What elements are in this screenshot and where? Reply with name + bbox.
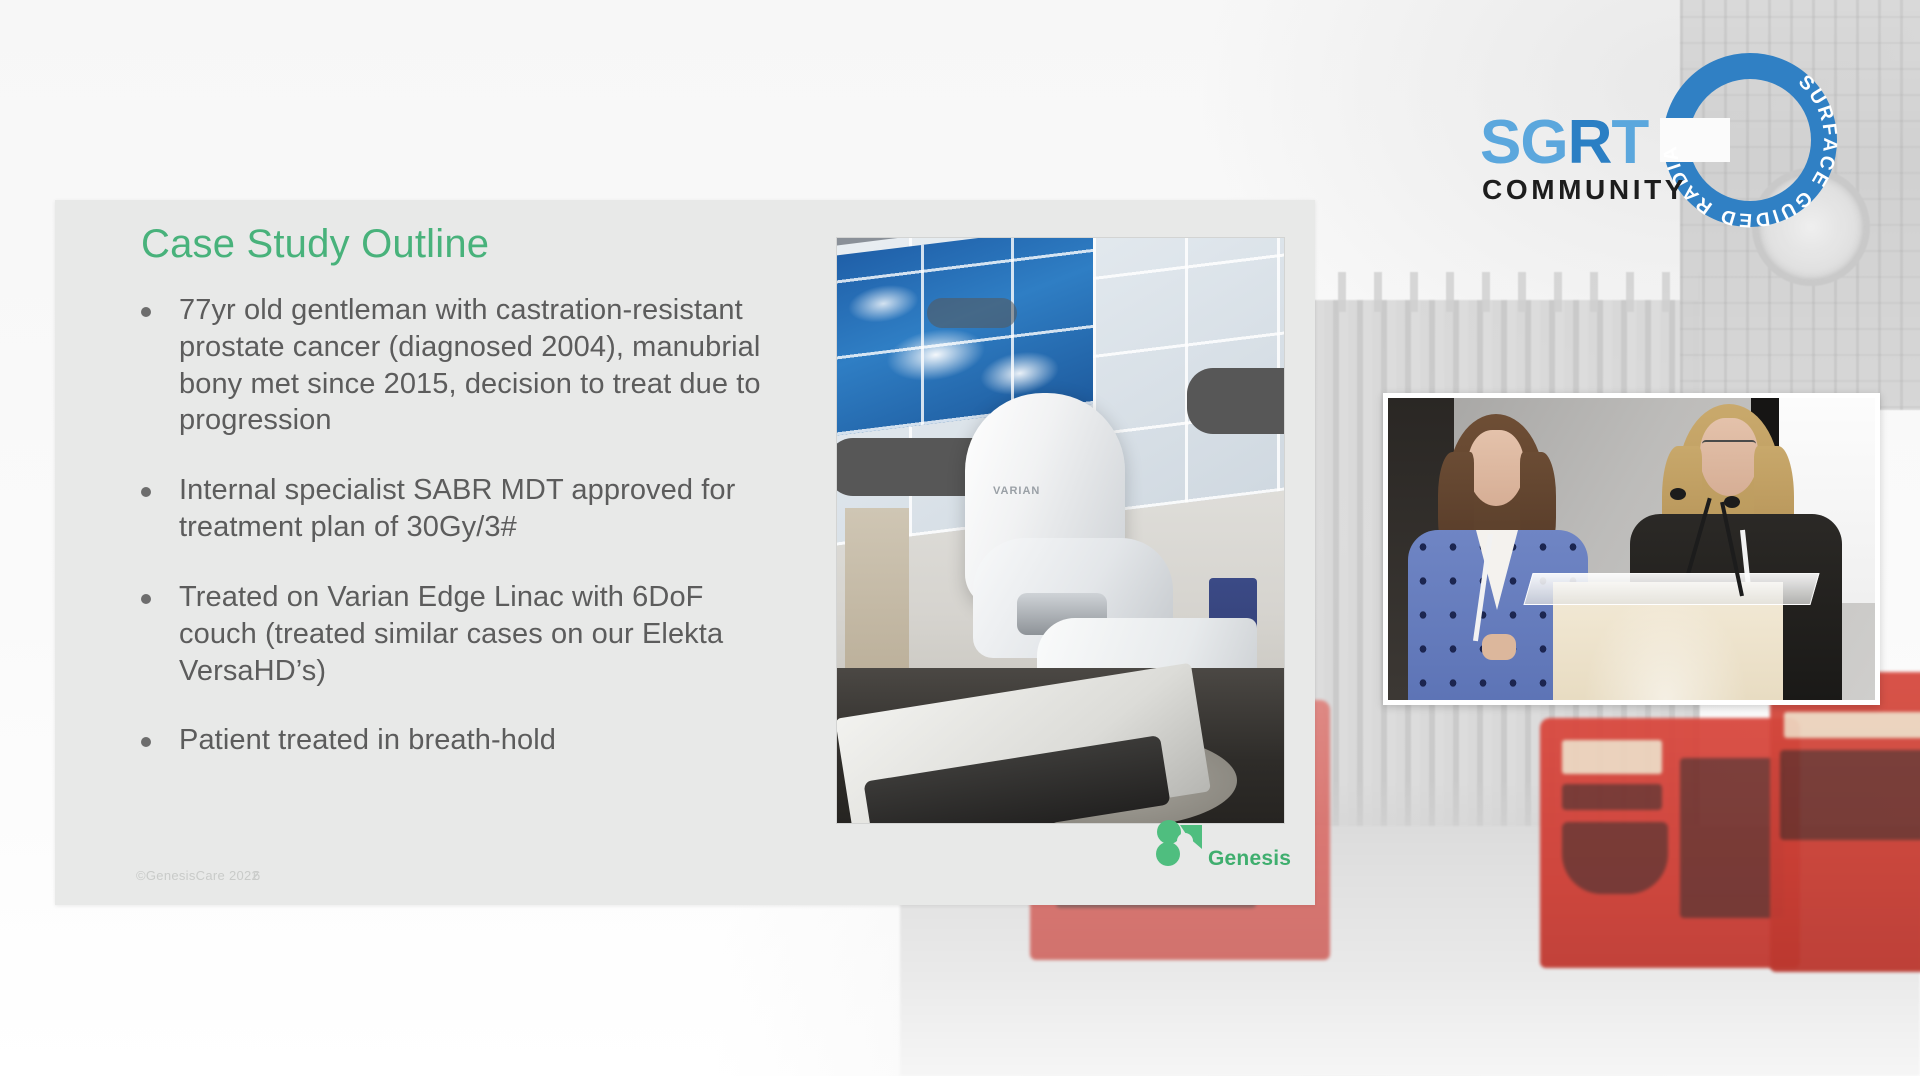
list-item: 77yr old gentleman with castration-resis… — [141, 292, 781, 439]
video-frame — [1388, 398, 1875, 700]
linac-treatment-room-photo: VARIAN — [836, 237, 1285, 824]
face — [1700, 418, 1758, 496]
bullet-dot-icon — [141, 594, 151, 604]
sgrt-prefix: SG — [1480, 108, 1568, 177]
lectern-glass-top — [1523, 573, 1819, 605]
bullet-text: 77yr old gentleman with castration-resis… — [179, 292, 781, 439]
genesis-mark-icon — [1152, 819, 1214, 867]
list-item: Internal specialist SABR MDT approved fo… — [141, 472, 781, 546]
bus-window — [1780, 750, 1920, 840]
glasses-icon — [1702, 440, 1756, 453]
bus-destination-board — [1784, 712, 1920, 738]
bus-destination-board — [1562, 740, 1662, 774]
bullet-text: Treated on Varian Edge Linac with 6DoF c… — [179, 579, 781, 689]
list-item: Treated on Varian Edge Linac with 6DoF c… — [141, 579, 781, 689]
sgrt-ring-emblem: SURFACE GUIDED RADIATION THERAPY — [1650, 40, 1850, 240]
list-item: Patient treated in breath-hold — [141, 722, 781, 759]
hands — [1482, 634, 1516, 660]
bullet-dot-icon — [141, 307, 151, 317]
bus-window — [1680, 758, 1784, 918]
bullet-dot-icon — [141, 737, 151, 747]
sgrt-community-logo: SURFACE GUIDED RADIATION THERAPY SGRT CO… — [1480, 40, 1880, 260]
face — [1468, 430, 1524, 506]
sgrt-accent-letter: R — [1568, 108, 1612, 177]
machine-brand-label: VARIAN — [993, 485, 1040, 497]
sgrt-suffix: T — [1611, 108, 1648, 177]
ring-icon: SURFACE GUIDED RADIATION THERAPY — [1650, 40, 1850, 240]
lectern-highlight — [1583, 590, 1748, 700]
sgrt-community-label: COMMUNITY — [1482, 174, 1687, 206]
page-number: 6 — [253, 868, 260, 883]
bullet-text: Patient treated in breath-hold — [179, 722, 556, 759]
double-decker-bus — [1540, 718, 1800, 968]
genesiscare-logo: Genesis — [1152, 819, 1287, 877]
bullet-text: Internal specialist SABR MDT approved fo… — [179, 472, 781, 546]
redaction-block — [1187, 368, 1285, 434]
presentation-stage: SURFACE GUIDED RADIATION THERAPY SGRT CO… — [0, 0, 1920, 1076]
double-decker-bus — [1770, 672, 1920, 972]
redaction-block — [927, 298, 1017, 328]
bus-window — [1562, 784, 1662, 810]
microphone-head-icon — [1724, 496, 1740, 508]
copyright-text: ©GenesisCare 2022 — [136, 868, 259, 883]
presenter-video-inset[interactable] — [1383, 393, 1880, 705]
presentation-slide: Case Study Outline 77yr old gentleman wi… — [55, 200, 1315, 905]
bullet-list: 77yr old gentleman with castration-resis… — [141, 292, 781, 792]
bullet-dot-icon — [141, 487, 151, 497]
slide-title: Case Study Outline — [141, 222, 489, 267]
bus-window — [1562, 822, 1668, 894]
sgrt-wordmark: SGRT — [1480, 112, 1648, 174]
genesis-wordmark: Genesis — [1208, 847, 1291, 871]
microphone-head-icon — [1670, 488, 1686, 500]
